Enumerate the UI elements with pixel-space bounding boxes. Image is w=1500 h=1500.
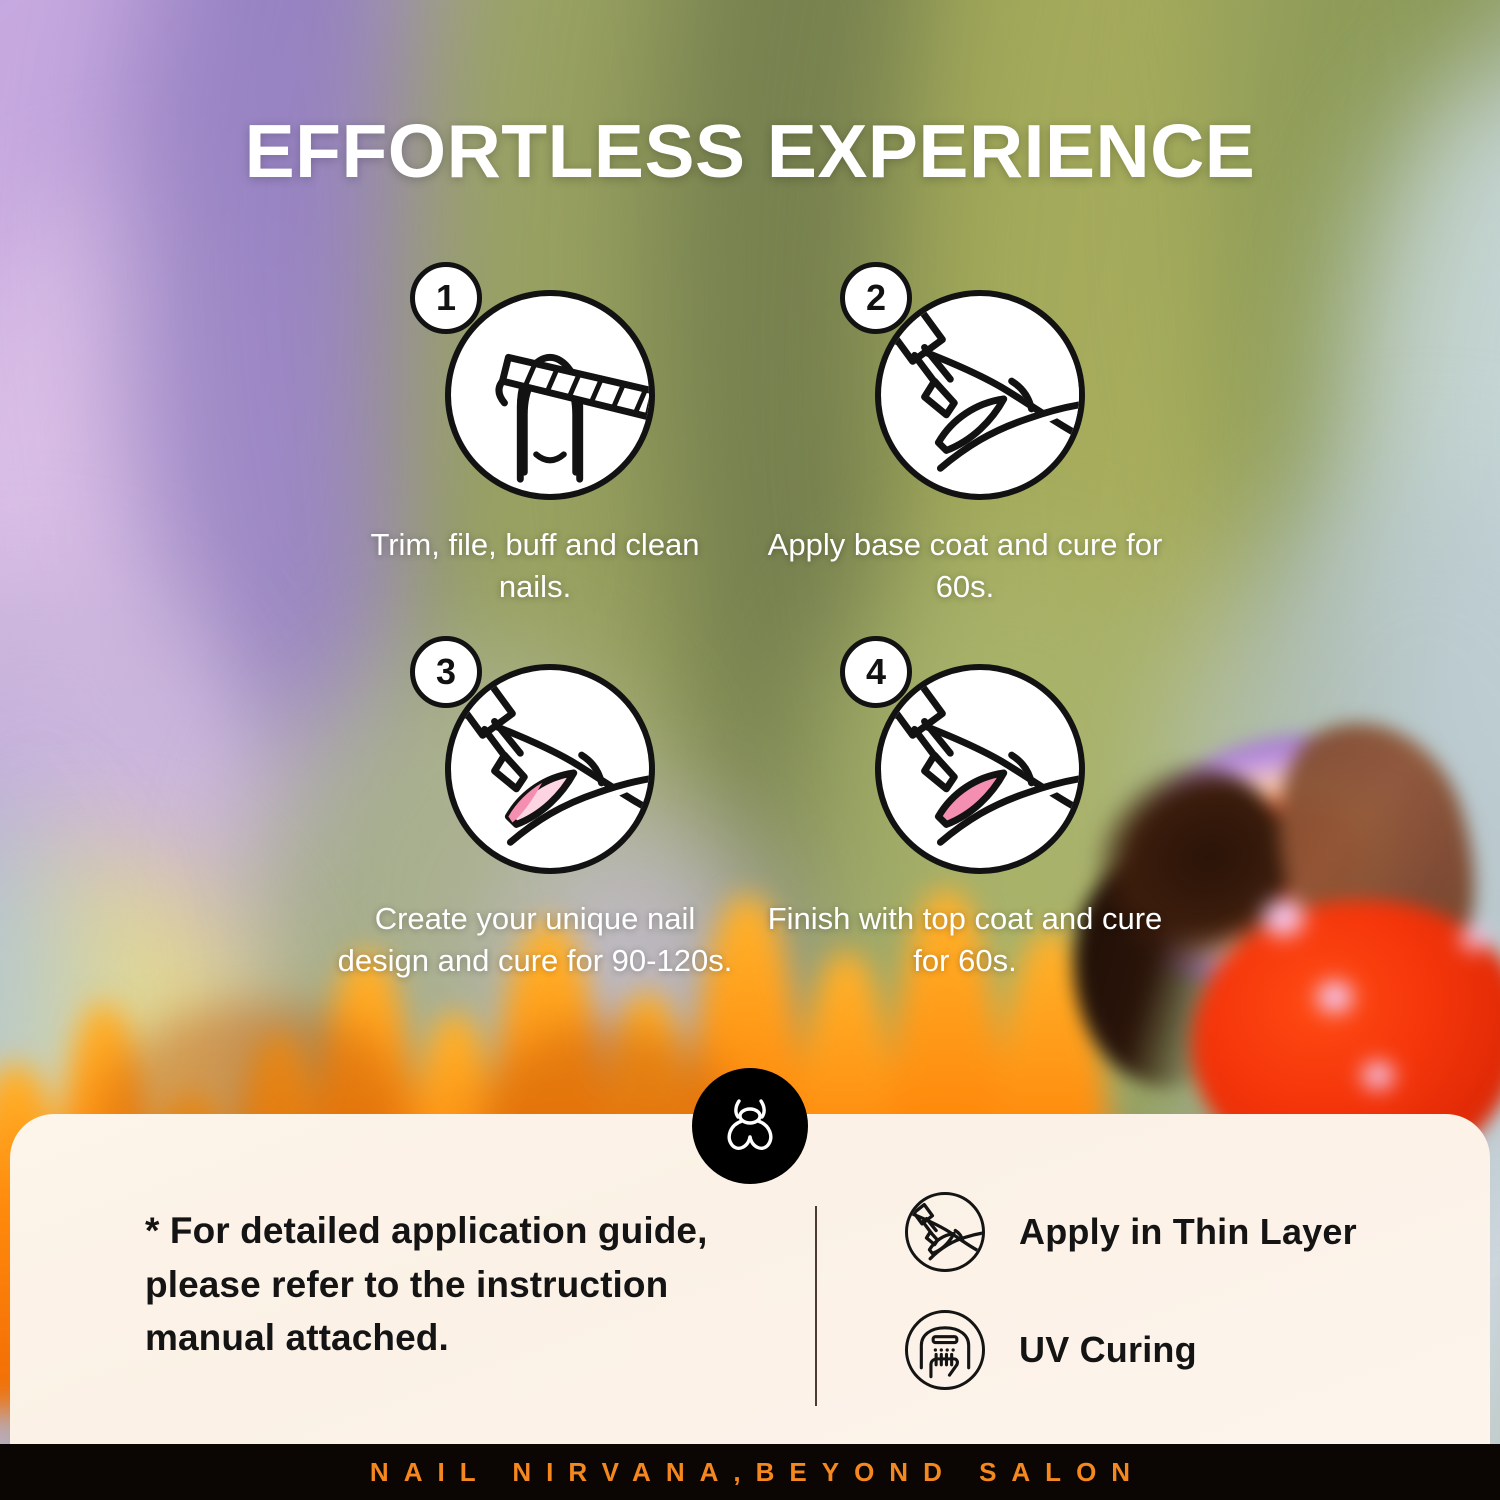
nail-design-brush-icon: [445, 664, 655, 874]
step-3: 3 Create your unique nail design and cur…: [320, 636, 750, 982]
step-2: 2 Apply base coat and cure for 60s.: [750, 262, 1180, 608]
feature-list: Apply in Thin Layer: [905, 1192, 1357, 1428]
step-caption: Create your unique nail design and cure …: [335, 898, 735, 982]
feature-apply-thin-layer: Apply in Thin Layer: [905, 1192, 1357, 1272]
step-4: 4 Finish with top coat and cure for 60s.: [750, 636, 1180, 982]
base-coat-brush-icon: [875, 290, 1085, 500]
page-title: EFFORTLESS EXPERIENCE: [0, 108, 1500, 194]
application-guide-note: * For detailed application guide, please…: [145, 1204, 785, 1365]
steps-row-1: 1 Trim, file, buff and clean nails.: [0, 262, 1500, 608]
footer-bar: NAIL NIRVANA,BEYOND SALON: [0, 1444, 1500, 1500]
step-caption: Apply base coat and cure for 60s.: [765, 524, 1165, 608]
step-number: 2: [840, 262, 912, 334]
step-number: 4: [840, 636, 912, 708]
brand-bee-logo: [692, 1068, 808, 1184]
promo-infographic: EFFORTLESS EXPERIENCE: [0, 0, 1500, 1500]
feature-label: Apply in Thin Layer: [1019, 1211, 1357, 1253]
top-coat-brush-icon: [875, 664, 1085, 874]
feature-label: UV Curing: [1019, 1329, 1197, 1371]
step-caption: Finish with top coat and cure for 60s.: [765, 898, 1165, 982]
uv-lamp-icon: [905, 1310, 985, 1390]
steps-row-2: 3 Create your unique nail design and cur…: [0, 636, 1500, 982]
footer-tagline: NAIL NIRVANA,BEYOND SALON: [355, 1457, 1145, 1488]
step-number: 3: [410, 636, 482, 708]
feature-uv-curing: UV Curing: [905, 1310, 1357, 1390]
brush-thin-layer-icon: [905, 1192, 985, 1272]
nail-file-icon: [445, 290, 655, 500]
step-number: 1: [410, 262, 482, 334]
step-1: 1 Trim, file, buff and clean nails.: [320, 262, 750, 608]
panel-divider: [815, 1206, 817, 1406]
step-caption: Trim, file, buff and clean nails.: [335, 524, 735, 608]
steps-grid: 1 Trim, file, buff and clean nails.: [0, 262, 1500, 981]
